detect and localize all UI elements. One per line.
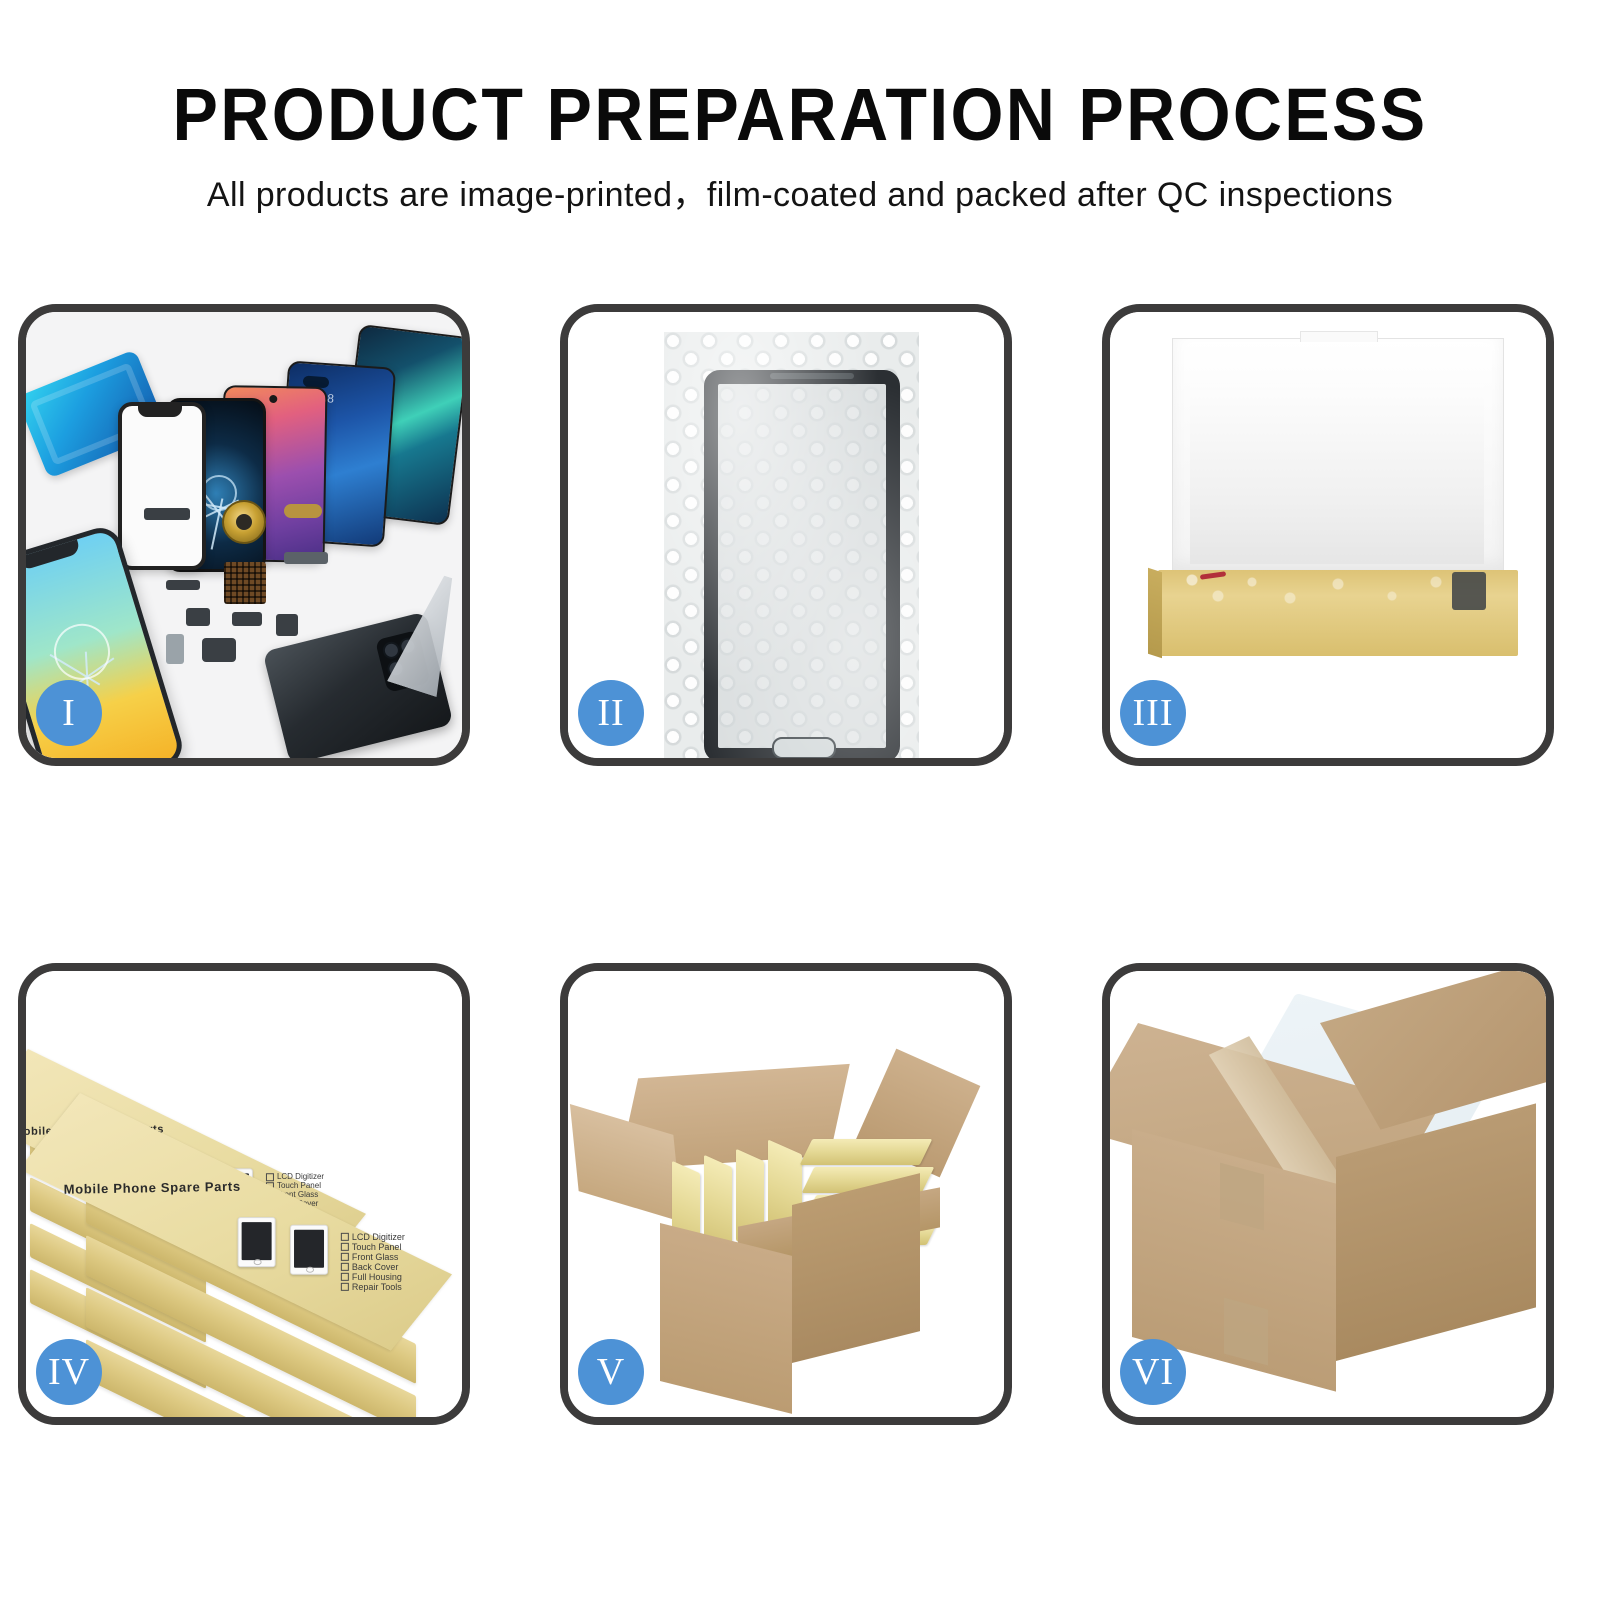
checklist-item: Back Cover [341, 1262, 405, 1272]
box-phone-image [238, 1217, 276, 1267]
flex-cable [284, 552, 328, 564]
front-glass-cover [118, 402, 206, 570]
phone-front-panel [704, 370, 900, 758]
step-panel-6: VI [1102, 963, 1554, 1425]
home-button [772, 737, 836, 758]
checklist-label: Back Cover [352, 1262, 399, 1272]
checklist-label: Front Glass [352, 1252, 399, 1262]
box-phone-image [290, 1225, 328, 1275]
checkbox-icon [341, 1243, 349, 1251]
screen-end-cap [1452, 572, 1486, 610]
checklist-item: Touch Panel [341, 1242, 405, 1252]
tray-left-wall [1148, 568, 1162, 659]
process-steps-grid: 08:08 [18, 295, 1588, 1475]
step-badge-4: IV [36, 1339, 102, 1405]
page-subtitle: All products are image-printed，film-coat… [0, 178, 1600, 212]
wrapped-screen-in-box [1178, 568, 1490, 614]
step-panel-2: II [560, 304, 1012, 766]
phone-screen-graphic [242, 1222, 272, 1260]
checkbox-icon [341, 1283, 349, 1291]
checklist-label: LCD Digitizer [352, 1232, 405, 1242]
step-panel-4: Mobile Phone Spare Parts LCD Digitizer T… [18, 963, 470, 1425]
step-badge-2: II [578, 680, 644, 746]
step-badge-5: V [578, 1339, 644, 1405]
taptic-engine [202, 638, 236, 662]
checklist-items: LCD Digitizer Touch Panel Front Glass Ba… [341, 1232, 405, 1292]
wireless-charging-coil [222, 500, 266, 544]
checklist-label: Full Housing [352, 1272, 402, 1282]
box-brand-label: Mobile Phone Spare Parts [64, 1179, 241, 1197]
camera-dot [269, 395, 277, 403]
step-badge-1: I [36, 680, 102, 746]
home-button-graphic [306, 1267, 314, 1273]
tape-square [1220, 1163, 1264, 1231]
vibration-motor [166, 580, 200, 590]
box-checklist-front: LCD Digitizer Touch Panel Front Glass Ba… [341, 1232, 405, 1292]
checklist-item: Full Housing [341, 1272, 405, 1282]
step-panel-1: 08:08 [18, 304, 470, 766]
home-button-graphic [254, 1259, 262, 1265]
step-panel-3: III [1102, 304, 1554, 766]
foam-insert [1190, 384, 1484, 564]
earpiece-speaker [144, 508, 190, 520]
screen-notch [138, 405, 182, 417]
lid-tab [1300, 331, 1378, 342]
bubble-wrap-sheet [664, 332, 919, 758]
camera-unit [276, 614, 298, 636]
checkbox-icon [341, 1263, 349, 1271]
checkbox-icon [341, 1233, 349, 1241]
step-badge-6: VI [1120, 1339, 1186, 1405]
speaker-module [232, 612, 262, 626]
checklist-item: Repair Tools [341, 1282, 405, 1292]
step-badge-3: III [1120, 680, 1186, 746]
small-component [186, 608, 210, 626]
step-panel-5: V [560, 963, 1012, 1425]
checklist-item: LCD Digitizer [341, 1232, 405, 1242]
carton-front-face [660, 1223, 792, 1414]
page-title: PRODUCT PREPARATION PROCESS [64, 78, 1536, 152]
sim-tray [166, 634, 184, 664]
checkbox-icon [341, 1273, 349, 1281]
red-flex-marker [1200, 571, 1226, 580]
checklist-label: Repair Tools [352, 1282, 402, 1292]
crack-ring [47, 617, 117, 687]
infographic-header: PRODUCT PREPARATION PROCESS All products… [0, 0, 1600, 212]
checklist-label: Touch Panel [352, 1242, 402, 1252]
tape-square [1224, 1298, 1268, 1366]
earpiece-slot [770, 373, 854, 379]
packed-gold-box [800, 1139, 933, 1165]
checklist-item: Front Glass [341, 1252, 405, 1262]
phone-screen-graphic [294, 1230, 324, 1268]
carton-side-face [792, 1173, 920, 1363]
checkbox-icon [341, 1253, 349, 1261]
checkbox-icon [266, 1174, 274, 1182]
flex-cable-gold [284, 504, 322, 518]
ic-chip [224, 562, 266, 604]
